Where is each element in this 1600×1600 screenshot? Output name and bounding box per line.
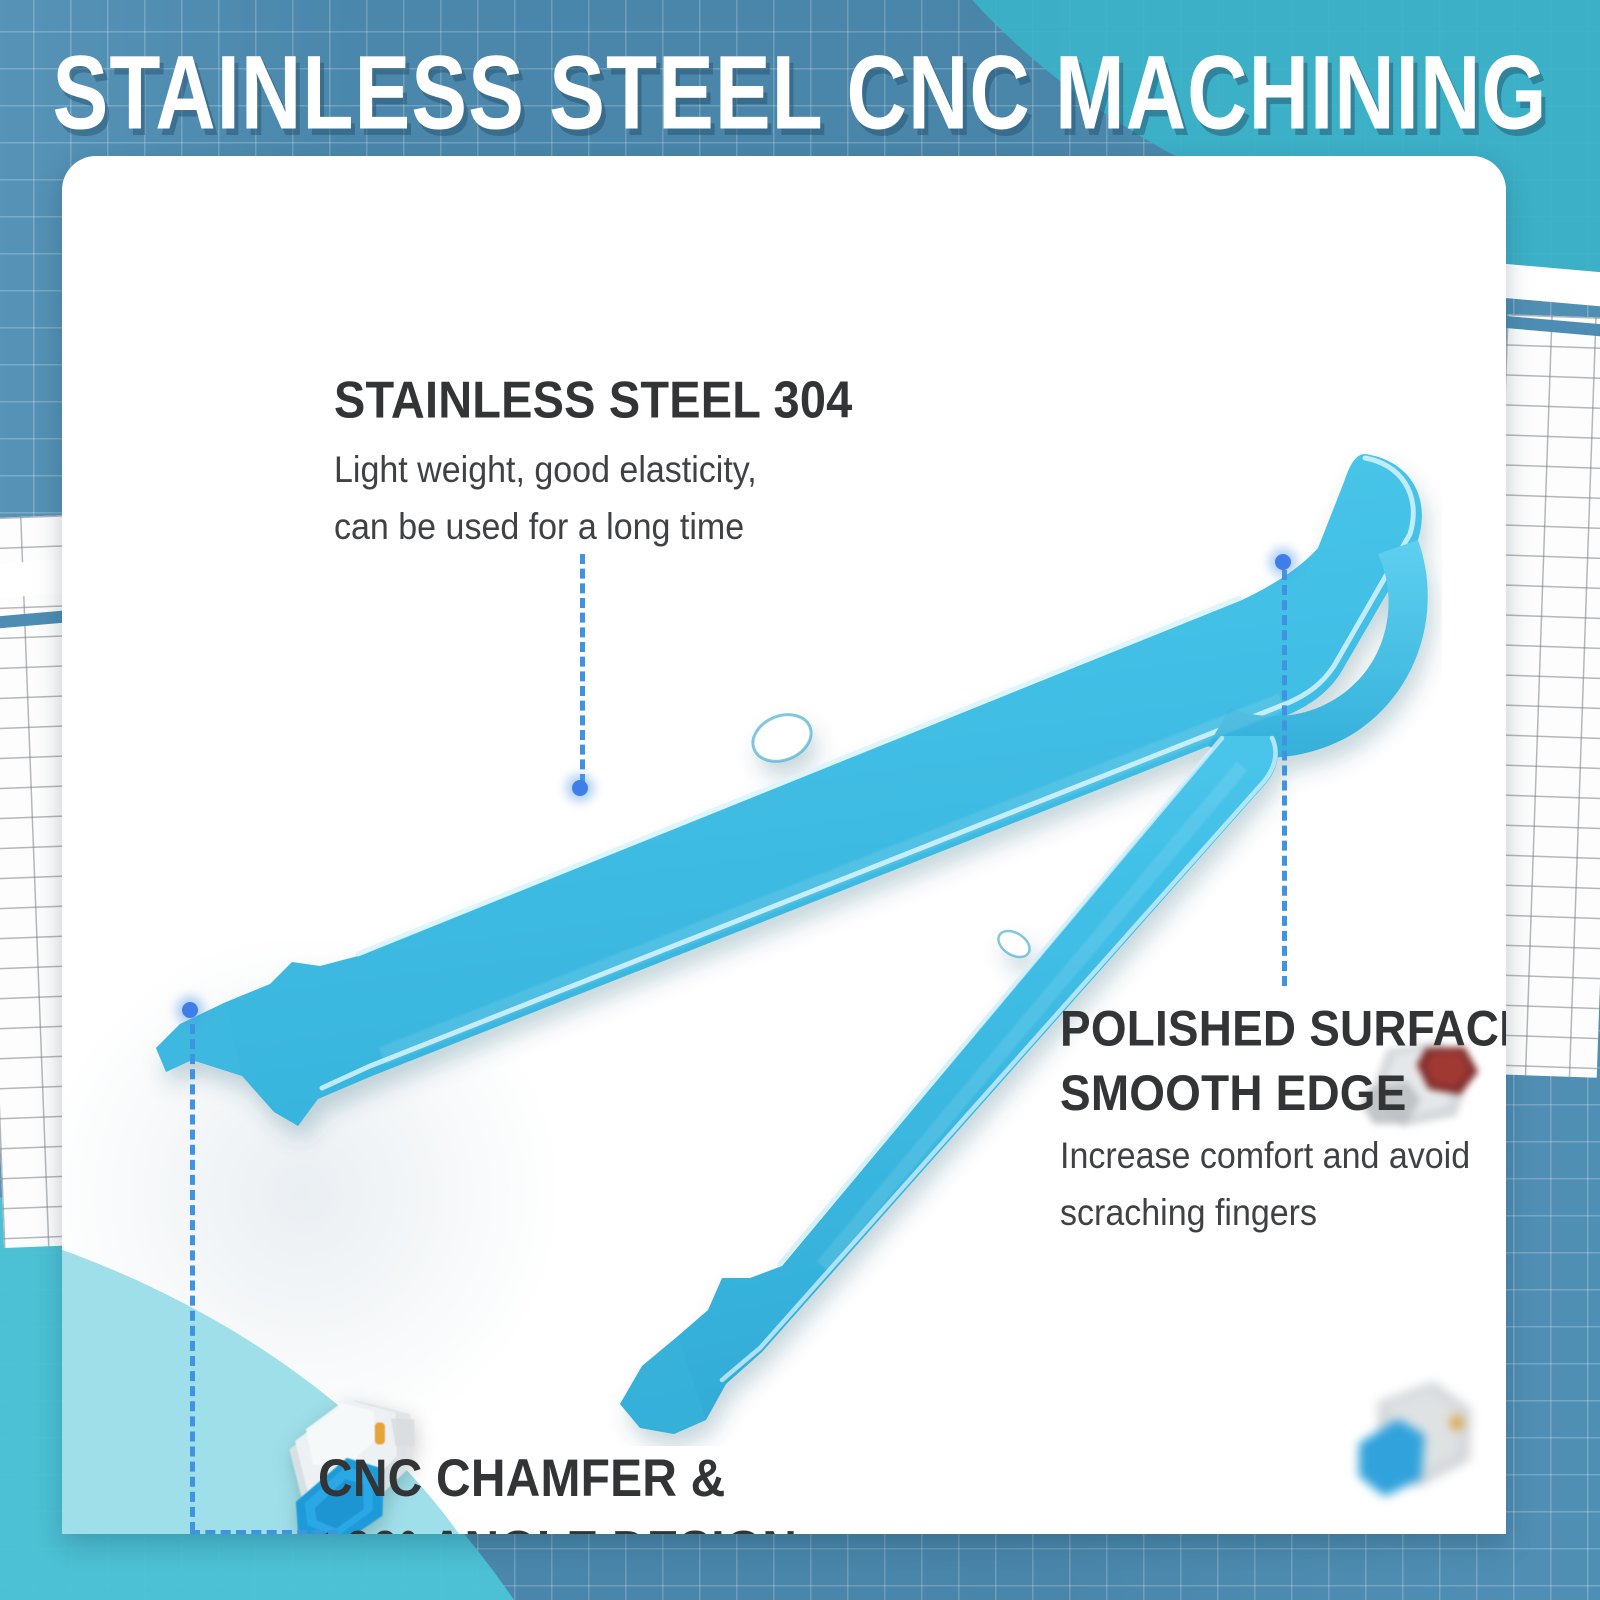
callout-polished-surface: POLISHED SURFACE, SMOOTH EDGE Increase c… bbox=[1060, 996, 1506, 1234]
callout-2-heading: POLISHED SURFACE, SMOOTH EDGE bbox=[1060, 996, 1506, 1126]
callout-3-heading-line1: CNC CHAMFER & bbox=[318, 1448, 725, 1507]
leader-endpoint-dot-3 bbox=[182, 1002, 198, 1018]
callout-3-heading-line2: 100° ANGLE DESIGN bbox=[318, 1519, 797, 1534]
infographic-canvas: STAINLESS STEEL CNC MACHINING bbox=[0, 0, 1600, 1600]
graph-paper-band-right bbox=[1504, 0, 1600, 1600]
content-card: STAINLESS STEEL 304 Light weight, good e… bbox=[62, 156, 1506, 1534]
callout-1-body-line2: can be used for a long time bbox=[334, 507, 744, 548]
callout-2-heading-line1: POLISHED SURFACE, bbox=[1060, 999, 1506, 1056]
callout-2-body: Increase comfort and avoid scraching fin… bbox=[1060, 1128, 1506, 1242]
leader-dash-vertical-2 bbox=[1282, 570, 1287, 986]
white-stripe-right-1 bbox=[1504, 260, 1600, 309]
callout-1-body: Light weight, good elasticity, can be us… bbox=[334, 442, 842, 556]
graph-paper-texture-right bbox=[1504, 314, 1600, 1078]
leader-endpoint-dot-2 bbox=[1275, 554, 1291, 570]
leader-dash-vertical-1 bbox=[580, 554, 585, 784]
callout-1-body-line1: Light weight, good elasticity, bbox=[334, 450, 757, 491]
leader-dash-horizontal-3 bbox=[190, 1530, 338, 1534]
callout-1-heading: STAINLESS STEEL 304 bbox=[334, 366, 852, 433]
page-title: STAINLESS STEEL CNC MACHINING bbox=[0, 34, 1600, 154]
callout-3-heading: CNC CHAMFER & 100° ANGLE DESIGN bbox=[318, 1442, 882, 1534]
leader-endpoint-dot-1 bbox=[572, 780, 588, 796]
callout-2-body-line2: scraching fingers bbox=[1060, 1193, 1317, 1234]
callout-2-heading-line2: SMOOTH EDGE bbox=[1060, 1064, 1407, 1121]
callout-2-body-line1: Increase comfort and avoid bbox=[1060, 1136, 1470, 1177]
leader-dash-vertical-3 bbox=[190, 1024, 195, 1532]
callout-stainless-steel-304: STAINLESS STEEL 304 Light weight, good e… bbox=[334, 366, 842, 548]
callout-cnc-chamfer: CNC CHAMFER & 100° ANGLE DESIGN Effectiv… bbox=[318, 1442, 871, 1534]
keycap-switch-puller-illustration bbox=[122, 436, 1442, 1446]
